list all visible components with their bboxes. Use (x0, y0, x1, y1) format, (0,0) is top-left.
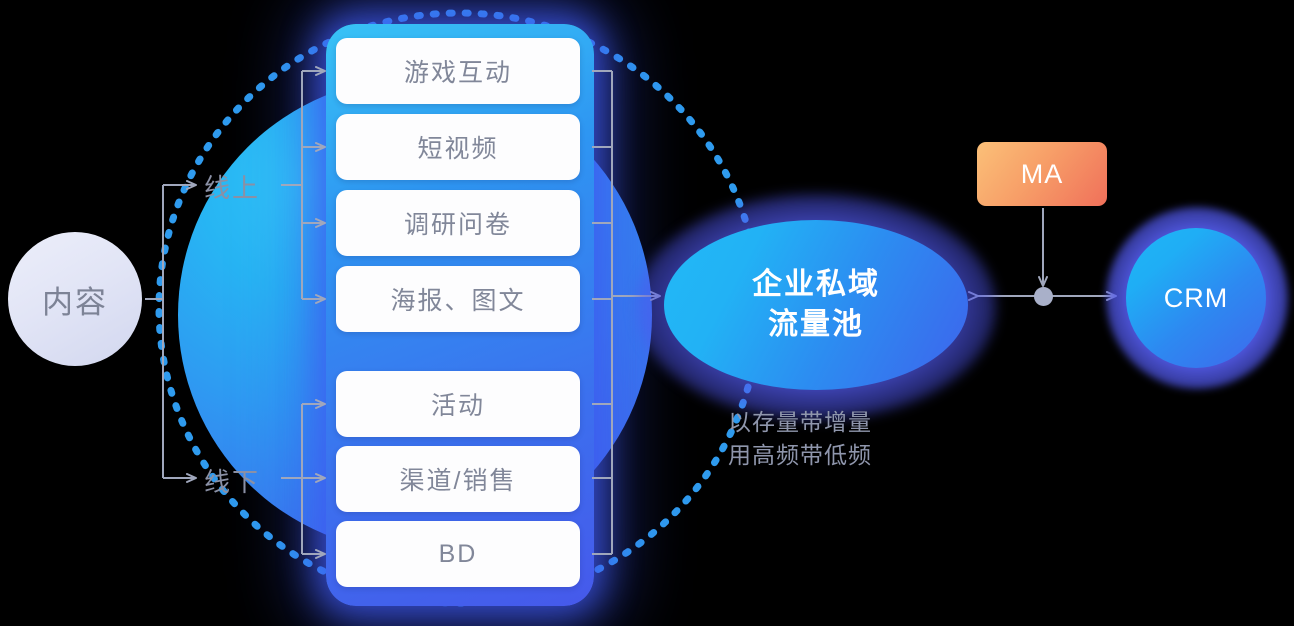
channel-card-label: 游戏互动 (404, 53, 512, 89)
diagram-canvas: 内容 (0, 0, 1294, 626)
channel-card-label: 海报、图文 (390, 281, 525, 317)
pool-label-line2: 流量池 (768, 305, 864, 345)
pool-annotation: 以存量带增量 用高频带低频 (728, 406, 988, 472)
channel-card-event[interactable]: 活动 (336, 371, 580, 437)
node-private-traffic-pool[interactable]: 企业私域 流量池 (664, 220, 968, 390)
pool-label-line1: 企业私域 (752, 265, 880, 305)
pool-annotation-line1: 以存量带增量 (728, 406, 988, 439)
node-ma[interactable]: MA (977, 142, 1107, 206)
channel-card-short-video[interactable]: 短视频 (336, 114, 580, 180)
pool-annotation-line2: 用高频带低频 (728, 439, 988, 472)
channel-card-game-interaction[interactable]: 游戏互动 (336, 38, 580, 104)
branch-label-offline: 线下 (204, 462, 260, 499)
channel-card-label: 短视频 (417, 129, 498, 165)
branch-label-online: 线上 (204, 168, 260, 205)
channel-card-label: 活动 (431, 386, 485, 422)
channel-card-label: 渠道/销售 (400, 461, 517, 497)
node-ma-label: MA (1021, 159, 1064, 190)
channel-card-bd[interactable]: BD (336, 521, 580, 587)
branch-offline-text: 线下 (204, 467, 260, 497)
junction-node-dot (1034, 287, 1053, 306)
branch-online-text: 线上 (204, 173, 260, 203)
channel-card-poster-graphic[interactable]: 海报、图文 (336, 266, 580, 332)
channel-card-survey[interactable]: 调研问卷 (336, 190, 580, 256)
node-crm-label: CRM (1164, 283, 1229, 314)
channel-card-label: 调研问卷 (404, 205, 512, 241)
channel-card-label: BD (439, 540, 478, 569)
node-crm[interactable]: CRM (1126, 228, 1266, 368)
channel-card-channel-sales[interactable]: 渠道/销售 (336, 446, 580, 512)
